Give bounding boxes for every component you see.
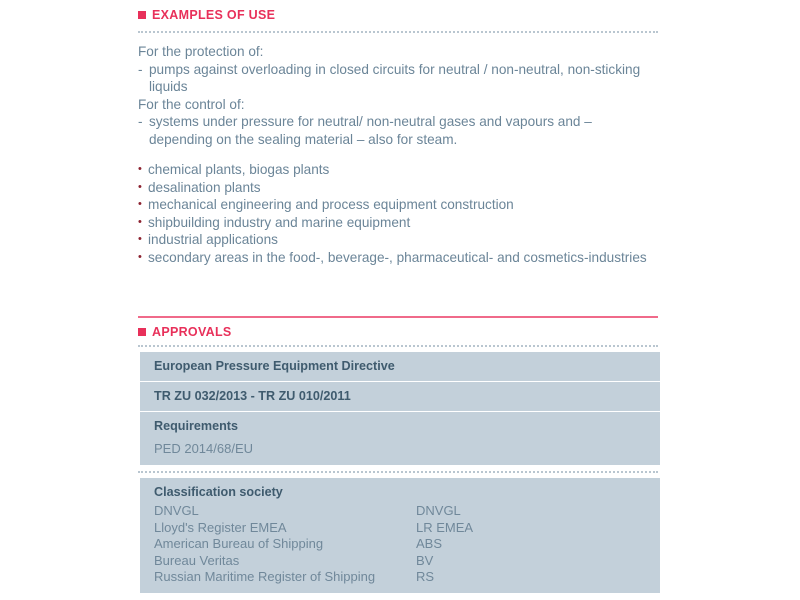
approval-panel-tr-zu: TR ZU 032/2013 - TR ZU 010/2011 bbox=[140, 382, 660, 411]
panel-title: TR ZU 032/2013 - TR ZU 010/2011 bbox=[154, 388, 646, 404]
list-item: • chemical plants, biogas plants bbox=[138, 161, 658, 179]
society-name: Bureau Veritas bbox=[154, 553, 416, 570]
document-page: EXAMPLES OF USE For the protection of: -… bbox=[138, 0, 658, 600]
dash-marker-icon: - bbox=[138, 113, 149, 148]
bullet-marker-icon: • bbox=[138, 249, 148, 267]
square-marker-icon bbox=[138, 11, 146, 19]
protection-list-item: - pumps against overloading in closed ci… bbox=[138, 61, 658, 96]
society-name: Russian Maritime Register of Shipping bbox=[154, 569, 416, 586]
divider-dotted-approvals bbox=[138, 345, 658, 347]
list-item: • shipbuilding industry and marine equip… bbox=[138, 214, 658, 232]
divider-dotted-top bbox=[138, 31, 658, 33]
list-item: • secondary areas in the food-, beverage… bbox=[138, 249, 658, 267]
section-heading-approvals: APPROVALS bbox=[138, 326, 232, 339]
protection-label: For the protection of: bbox=[138, 43, 658, 61]
bullet-marker-icon: • bbox=[138, 179, 148, 197]
society-abbreviation: BV bbox=[416, 553, 646, 570]
society-abbreviation: LR EMEA bbox=[416, 520, 646, 537]
control-list-item-text: systems under pressure for neutral/ non-… bbox=[149, 113, 658, 148]
society-abbreviation: DNVGL bbox=[416, 503, 646, 520]
bullet-marker-icon: • bbox=[138, 214, 148, 232]
list-item-label: secondary areas in the food-, beverage-,… bbox=[148, 249, 658, 267]
society-name: Lloyd's Register EMEA bbox=[154, 520, 416, 537]
society-abbreviation: ABS bbox=[416, 536, 646, 553]
spacer bbox=[154, 434, 646, 441]
table-row: American Bureau of Shipping ABS bbox=[154, 536, 646, 553]
society-name: DNVGL bbox=[154, 503, 416, 520]
square-marker-icon bbox=[138, 328, 146, 336]
bullet-marker-icon: • bbox=[138, 161, 148, 179]
dash-marker-icon: - bbox=[138, 61, 149, 96]
section-heading-label: EXAMPLES OF USE bbox=[152, 9, 275, 22]
list-item: • mechanical engineering and process equ… bbox=[138, 196, 658, 214]
table-row: Russian Maritime Register of Shipping RS bbox=[154, 569, 646, 586]
panel-title: Classification society bbox=[154, 484, 646, 500]
control-list-item: - systems under pressure for neutral/ no… bbox=[138, 113, 658, 148]
examples-intro-block: For the protection of: - pumps against o… bbox=[138, 43, 658, 148]
requirements-value: PED 2014/68/EU bbox=[154, 441, 646, 458]
list-item: • industrial applications bbox=[138, 231, 658, 249]
approval-panel-classification-society: Classification society DNVGL DNVGL Lloyd… bbox=[140, 478, 660, 593]
list-item-label: chemical plants, biogas plants bbox=[148, 161, 658, 179]
panel-title: Requirements bbox=[154, 418, 646, 434]
control-label: For the control of: bbox=[138, 96, 658, 114]
applications-list: • chemical plants, biogas plants • desal… bbox=[138, 161, 658, 266]
divider-dotted-classification bbox=[138, 471, 658, 473]
table-row: DNVGL DNVGL bbox=[154, 503, 646, 520]
divider-pink bbox=[138, 316, 658, 318]
section-heading-examples-of-use: EXAMPLES OF USE bbox=[138, 9, 275, 22]
table-row: Lloyd's Register EMEA LR EMEA bbox=[154, 520, 646, 537]
list-item-label: shipbuilding industry and marine equipme… bbox=[148, 214, 658, 232]
approval-panel-requirements: Requirements PED 2014/68/EU bbox=[140, 412, 660, 465]
panel-title: European Pressure Equipment Directive bbox=[154, 358, 646, 374]
approval-panel-directive: European Pressure Equipment Directive bbox=[140, 352, 660, 381]
society-name: American Bureau of Shipping bbox=[154, 536, 416, 553]
table-row: Bureau Veritas BV bbox=[154, 553, 646, 570]
list-item-label: desalination plants bbox=[148, 179, 658, 197]
protection-list-item-text: pumps against overloading in closed circ… bbox=[149, 61, 658, 96]
bullet-marker-icon: • bbox=[138, 231, 148, 249]
section-heading-label: APPROVALS bbox=[152, 326, 232, 339]
list-item: • desalination plants bbox=[138, 179, 658, 197]
society-abbreviation: RS bbox=[416, 569, 646, 586]
bullet-marker-icon: • bbox=[138, 196, 148, 214]
list-item-label: mechanical engineering and process equip… bbox=[148, 196, 658, 214]
list-item-label: industrial applications bbox=[148, 231, 658, 249]
